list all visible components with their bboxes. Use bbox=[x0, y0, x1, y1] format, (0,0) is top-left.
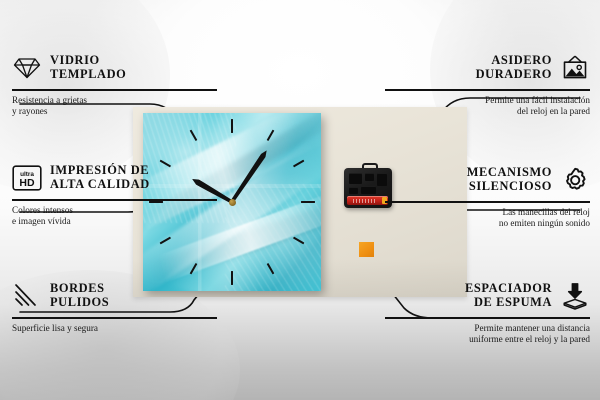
feature-desc-line1: Colores intensos bbox=[12, 205, 73, 215]
feature-desc-line1: Superficie lisa y segura bbox=[12, 323, 98, 333]
feature-divider bbox=[385, 89, 590, 91]
infographic-canvas: Estampado abstracto de plumas en turques… bbox=[0, 0, 600, 400]
movement-slot bbox=[365, 173, 374, 181]
feature-espaciador-de-espuma: ESPACIADOR DE ESPUMA Permite mantener un… bbox=[385, 276, 590, 345]
feature-title-line1: MECANISMO bbox=[467, 165, 552, 179]
feature-header: ultra HD IMPRESIÓN DE ALTA CALIDAD bbox=[12, 158, 217, 198]
ultra-hd-icon: ultra HD bbox=[12, 163, 42, 193]
feature-impresion-alta-calidad: ultra HD IMPRESIÓN DE ALTA CALIDAD Color… bbox=[12, 158, 217, 227]
feature-title: IMPRESIÓN DE ALTA CALIDAD bbox=[50, 164, 150, 191]
feature-title-line2: PULIDOS bbox=[50, 295, 109, 309]
feature-header: ESPACIADOR DE ESPUMA bbox=[385, 276, 590, 316]
feature-desc-line1: Permite una fácil instalación bbox=[485, 95, 590, 105]
feature-divider bbox=[385, 317, 590, 319]
feature-title: BORDES PULIDOS bbox=[50, 282, 109, 309]
diamond-icon bbox=[12, 53, 42, 83]
feature-desc-line2: uniforme entre el reloj y la pared bbox=[469, 334, 590, 344]
clock-tick bbox=[232, 201, 321, 203]
feature-description: Permite mantener una distancia uniforme … bbox=[385, 323, 590, 345]
feature-divider bbox=[12, 89, 217, 91]
feature-desc-line2: e imagen vívida bbox=[12, 216, 71, 226]
feature-title-line2: ALTA CALIDAD bbox=[50, 177, 150, 191]
feature-title: MECANISMO SILENCIOSO bbox=[467, 166, 552, 193]
feature-desc-line2: no emiten ningún sonido bbox=[499, 218, 590, 228]
gear-icon bbox=[560, 165, 590, 195]
feature-title-line1: BORDES bbox=[50, 281, 105, 295]
feature-divider bbox=[12, 199, 217, 201]
movement-slot bbox=[349, 173, 362, 184]
feature-title-line1: ASIDERO bbox=[491, 53, 552, 67]
clock-center-cap bbox=[229, 199, 236, 206]
battery-label bbox=[353, 199, 377, 203]
feature-title: VIDRIO TEMPLADO bbox=[50, 54, 126, 81]
movement-slot bbox=[349, 187, 358, 194]
polished-edge-hatch-icon bbox=[12, 281, 42, 311]
feature-title-line2: DE ESPUMA bbox=[474, 295, 552, 309]
feature-title-line2: SILENCIOSO bbox=[469, 179, 552, 193]
feature-header: MECANISMO SILENCIOSO bbox=[385, 160, 590, 200]
feature-divider bbox=[385, 201, 590, 203]
aa-battery bbox=[347, 196, 388, 205]
feature-desc-line2: y rayones bbox=[12, 106, 47, 116]
feature-description: Superficie lisa y segura bbox=[12, 323, 217, 334]
feature-desc-line1: Resistencia a grietas bbox=[12, 95, 87, 105]
clock-tick bbox=[231, 202, 233, 291]
ultra-hd-icon-bottom-text: HD bbox=[19, 177, 35, 189]
feature-mecanismo-silencioso: MECANISMO SILENCIOSO Las manecillas del … bbox=[385, 160, 590, 229]
feature-title-line2: DURADERO bbox=[476, 67, 552, 81]
feature-divider bbox=[12, 317, 217, 319]
feature-title-line1: VIDRIO bbox=[50, 53, 100, 67]
feature-desc-line2: del reloj en la pared bbox=[517, 106, 590, 116]
feature-bordes-pulidos: BORDES PULIDOS Superficie lisa y segura bbox=[12, 276, 217, 334]
feature-header: ASIDERO DURADERO bbox=[385, 48, 590, 88]
feature-description: Colores intensos e imagen vívida bbox=[12, 205, 217, 227]
feature-vidrio-templado: VIDRIO TEMPLADO Resistencia a grietas y … bbox=[12, 48, 217, 117]
foam-spacer bbox=[359, 242, 376, 259]
feature-asidero-duradero: ASIDERO DURADERO Permite una fácil insta… bbox=[385, 48, 590, 117]
feature-title-line1: IMPRESIÓN DE bbox=[50, 163, 149, 177]
feature-description: Las manecillas del reloj no emiten ningú… bbox=[385, 207, 590, 229]
foam-spacer-pad bbox=[359, 242, 374, 257]
feature-header: BORDES PULIDOS bbox=[12, 276, 217, 316]
movement-slot bbox=[361, 186, 376, 194]
feature-title-line2: TEMPLADO bbox=[50, 67, 126, 81]
hanging-picture-frame-icon bbox=[560, 53, 590, 83]
feature-title-line1: ESPACIADOR bbox=[465, 281, 552, 295]
feature-desc-line1: Las manecillas del reloj bbox=[502, 207, 590, 217]
clock-tick bbox=[231, 113, 233, 202]
feature-header: VIDRIO TEMPLADO bbox=[12, 48, 217, 88]
feature-description: Resistencia a grietas y rayones bbox=[12, 95, 217, 117]
feature-desc-line1: Permite mantener una distancia bbox=[474, 323, 590, 333]
arrow-down-onto-pad-icon bbox=[560, 281, 590, 311]
feature-title: ESPACIADOR DE ESPUMA bbox=[465, 282, 552, 309]
feature-title: ASIDERO DURADERO bbox=[476, 54, 552, 81]
feature-description: Permite una fácil instalación del reloj … bbox=[385, 95, 590, 117]
